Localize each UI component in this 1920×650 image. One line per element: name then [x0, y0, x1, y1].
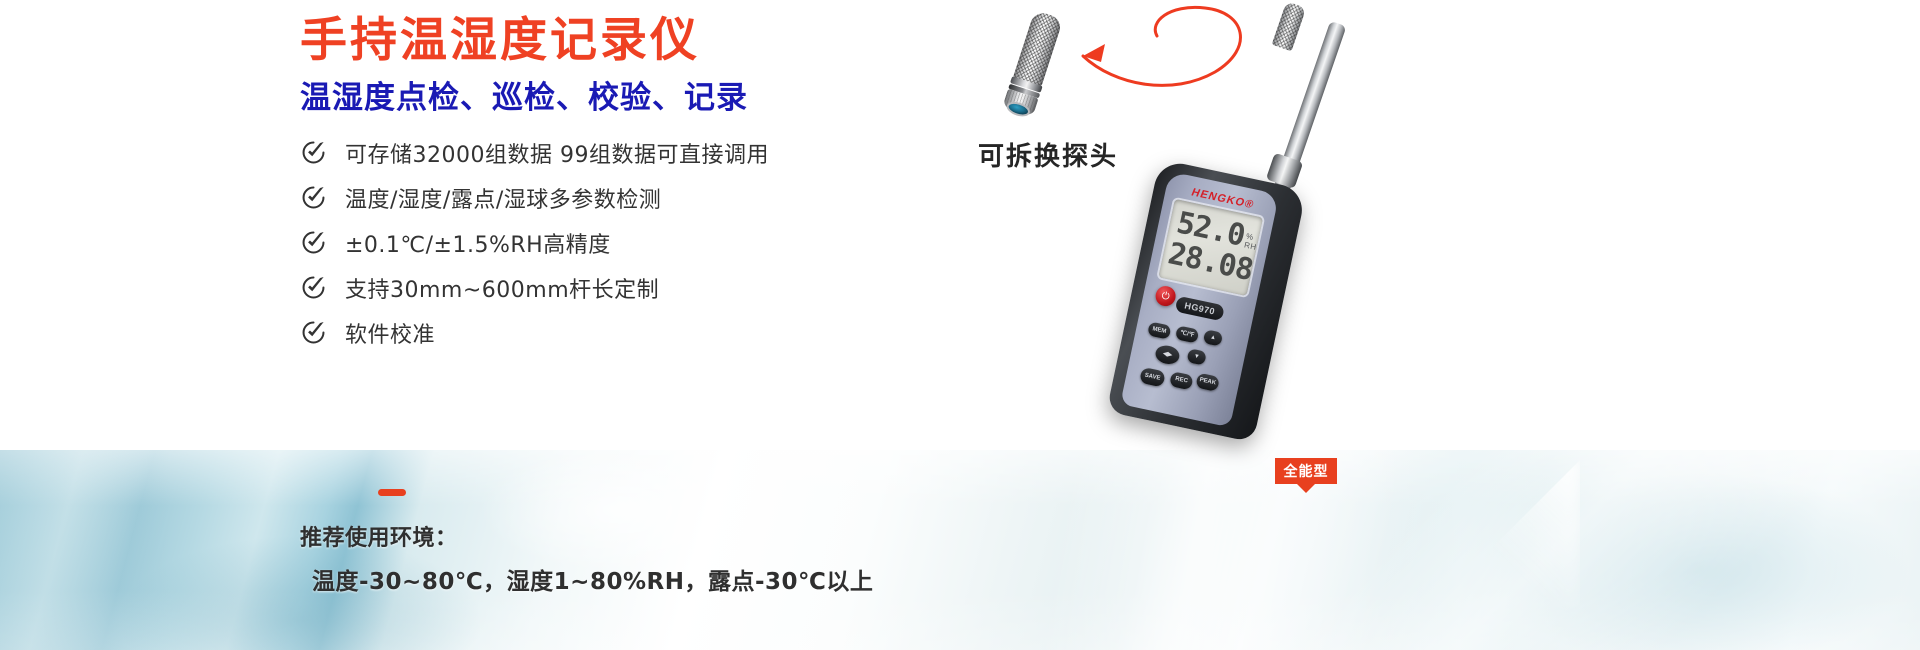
humidity-unit: % RH [1243, 232, 1259, 252]
list-item-label: 可存储32000组数据 99组数据可直接调用 [345, 137, 769, 169]
lcd-screen: 52.0 % RH 28.08 ℃ [1158, 199, 1263, 296]
banner-subtitle: 温湿度点检、巡检、校验、记录 [300, 80, 748, 117]
list-item: 支持30mm~600mm杆长定制 [300, 265, 920, 310]
list-item: 温度/湿度/露点/湿球多参数检测 [300, 175, 920, 220]
meter-device-image: HENGKO® 52.0 % RH 28.08 ℃ ⏻ HG970 MEM ℃/… [1105, 6, 1435, 526]
key-up[interactable]: ▲ [1203, 329, 1224, 346]
sensor-mesh-tip [1272, 1, 1307, 51]
status-badge: 全能型 [1275, 458, 1337, 484]
key-save[interactable]: SAVE [1139, 367, 1166, 388]
probe-label: 可拆换探头 [978, 136, 1118, 173]
list-item-label: 软件校准 [345, 317, 435, 349]
key-left-right[interactable]: ◀▶ [1154, 343, 1181, 366]
device-housing: HENGKO® 52.0 % RH 28.08 ℃ ⏻ HG970 MEM ℃/… [1106, 159, 1306, 443]
key-rec[interactable]: REC [1169, 371, 1194, 390]
key-mem[interactable]: MEM [1147, 321, 1171, 339]
check-circle-icon [300, 229, 327, 256]
background-photo-band [0, 450, 1920, 650]
check-circle-icon [300, 274, 327, 301]
product-banner: 手持温湿度记录仪 温湿度点检、巡检、校验、记录 可存储32000组数据 99组数… [0, 0, 1920, 650]
list-item-label: 温度/湿度/露点/湿球多参数检测 [345, 182, 661, 214]
list-item: ±0.1℃/±1.5%RH高精度 [300, 220, 920, 265]
key-down[interactable]: ▼ [1186, 348, 1207, 365]
list-item: 可存储32000组数据 99组数据可直接调用 [300, 130, 920, 175]
list-item: 软件校准 [300, 310, 920, 355]
accent-dash [378, 489, 406, 496]
check-circle-icon [300, 139, 327, 166]
model-label: HG970 [1175, 296, 1225, 322]
device-front-panel: HENGKO® 52.0 % RH 28.08 ℃ ⏻ HG970 MEM ℃/… [1120, 171, 1279, 427]
environment-value: 温度-30~80℃，湿度1~80%RH，露点-30℃以上 [312, 562, 873, 596]
banner-title: 手持温湿度记录仪 [300, 14, 700, 68]
list-item-label: ±0.1℃/±1.5%RH高精度 [345, 227, 611, 259]
list-item-label: 支持30mm~600mm杆长定制 [345, 272, 659, 304]
check-circle-icon [300, 184, 327, 211]
temperature-unit: ℃ [1251, 275, 1262, 286]
keypad: MEM ℃/℉ ▲ ◀▶ ▼ SAVE REC PEAK [1129, 315, 1241, 421]
power-button[interactable]: ⏻ [1154, 284, 1178, 308]
key-peak[interactable]: PEAK [1195, 373, 1220, 392]
key-unit[interactable]: ℃/℉ [1175, 325, 1199, 343]
check-circle-icon [300, 319, 327, 346]
feature-list: 可存储32000组数据 99组数据可直接调用 温度/湿度/露点/湿球多参数检测 … [300, 130, 920, 355]
environment-label: 推荐使用环境： [300, 520, 458, 552]
